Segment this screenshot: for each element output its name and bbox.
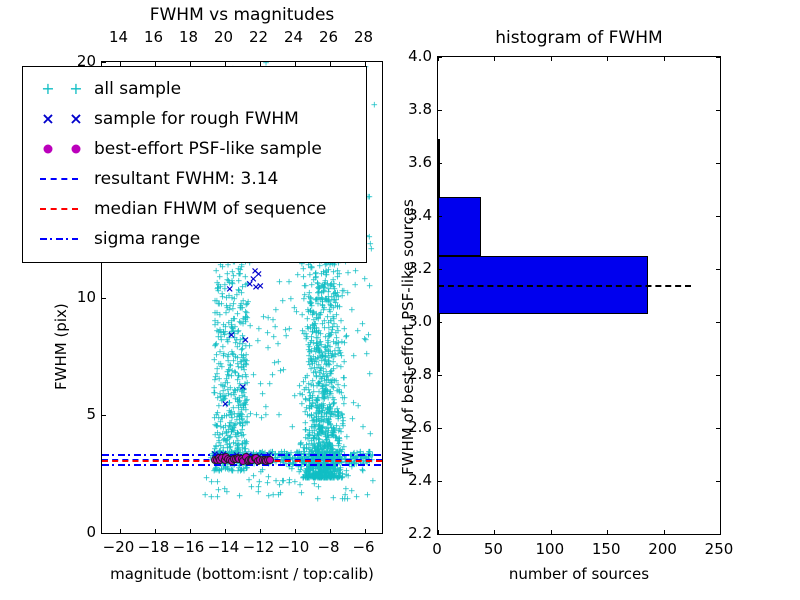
scatter-point-all-sample: + xyxy=(310,418,318,427)
scatter-point-all-sample: + xyxy=(240,366,248,375)
scatter-point-all-sample: + xyxy=(317,309,325,318)
scatter-point-all-sample: + xyxy=(236,492,244,501)
scatter-point-all-sample: + xyxy=(238,427,246,436)
scatter-point-all-sample: + xyxy=(330,315,338,324)
scatter-point-all-sample: + xyxy=(319,424,327,433)
scatter-point-all-sample: + xyxy=(243,379,251,388)
scatter-point-all-sample: + xyxy=(320,402,328,411)
scatter-point-all-sample: + xyxy=(259,390,267,399)
scatter-point-all-sample: + xyxy=(320,474,328,483)
scatter-point-all-sample: + xyxy=(316,469,324,478)
scatter-point-all-sample: + xyxy=(230,327,238,336)
scatter-point-all-sample: + xyxy=(310,474,318,483)
scatter-point-all-sample: + xyxy=(223,438,231,447)
scatter-point-all-sample: + xyxy=(237,336,245,345)
histogram-y-tick xyxy=(438,534,442,535)
scatter-point-all-sample: + xyxy=(223,413,231,422)
scatter-point-all-sample: + xyxy=(324,338,332,347)
scatter-point-all-sample: + xyxy=(299,474,307,483)
scatter-point-all-sample: + xyxy=(324,430,332,439)
histogram-x-tick-label: 200 xyxy=(648,540,677,558)
scatter-point-all-sample: + xyxy=(233,434,241,443)
scatter-point-all-sample: + xyxy=(264,330,272,339)
scatter-point-all-sample: + xyxy=(319,353,327,362)
scatter-point-all-sample: + xyxy=(297,441,305,450)
scatter-point-all-sample: + xyxy=(322,267,330,276)
scatter-point-all-sample: + xyxy=(242,313,250,322)
histogram-y-tick-label: 2.2 xyxy=(392,524,432,542)
scatter-point-all-sample: + xyxy=(310,471,318,480)
scatter-point-all-sample: + xyxy=(282,327,290,336)
scatter-point-all-sample: + xyxy=(334,345,342,354)
scatter-point-all-sample: + xyxy=(306,472,314,481)
scatter-point-all-sample: + xyxy=(332,472,340,481)
scatter-point-all-sample: + xyxy=(307,264,315,273)
scatter-point-all-sample: + xyxy=(239,364,247,373)
scatter-x-tick-label: −18 xyxy=(138,538,170,556)
scatter-point-all-sample: + xyxy=(226,440,234,449)
scatter-point-all-sample: + xyxy=(246,323,254,332)
scatter-point-all-sample: + xyxy=(223,437,231,446)
scatter-x-tick-label: −12 xyxy=(243,538,275,556)
scatter-point-all-sample: + xyxy=(318,469,326,478)
scatter-point-all-sample: + xyxy=(271,323,279,332)
scatter-point-all-sample: + xyxy=(229,467,237,476)
scatter-point-all-sample: + xyxy=(314,431,322,440)
scatter-point-all-sample: + xyxy=(315,389,323,398)
scatter-point-all-sample: + xyxy=(257,380,265,389)
scatter-point-all-sample: + xyxy=(305,290,313,299)
scatter-x-tick-label: −8 xyxy=(317,538,339,556)
scatter-point-all-sample: + xyxy=(224,262,232,271)
scatter-point-all-sample: + xyxy=(299,391,307,400)
scatter-point-all-sample: + xyxy=(217,443,225,452)
scatter-point-all-sample: + xyxy=(334,413,342,422)
scatter-point-all-sample: + xyxy=(291,392,299,401)
scatter-point-all-sample: + xyxy=(227,385,235,394)
scatter-point-all-sample: + xyxy=(307,295,315,304)
scatter-point-all-sample: + xyxy=(306,470,314,479)
scatter-point-all-sample: + xyxy=(316,443,324,452)
scatter-point-all-sample: + xyxy=(317,474,325,483)
scatter-point-all-sample: + xyxy=(269,491,277,500)
scatter-point-all-sample: + xyxy=(237,420,245,429)
scatter-point-all-sample: + xyxy=(320,318,328,327)
scatter-point-all-sample: + xyxy=(262,404,270,413)
scatter-point-all-sample: + xyxy=(322,429,330,438)
scatter-point-all-sample: + xyxy=(314,394,322,403)
scatter-point-all-sample: + xyxy=(339,420,347,429)
figure-canvas: FWHM vs magnitudes +++++++++++++++++++++… xyxy=(0,0,800,600)
scatter-point-all-sample: + xyxy=(322,352,330,361)
scatter-point-all-sample: + xyxy=(333,335,341,344)
scatter-point-all-sample: + xyxy=(321,471,329,480)
scatter-point-all-sample: + xyxy=(300,473,308,482)
scatter-point-all-sample: + xyxy=(329,428,337,437)
scatter-point-all-sample: + xyxy=(301,445,309,454)
scatter-point-all-sample: + xyxy=(217,382,225,391)
scatter-point-all-sample: + xyxy=(225,407,233,416)
scatter-point-all-sample: + xyxy=(359,466,367,475)
scatter-x-tick xyxy=(155,529,156,533)
scatter-point-all-sample: + xyxy=(304,436,312,445)
legend-label: all sample xyxy=(94,78,181,100)
scatter-point-all-sample: + xyxy=(340,287,348,296)
scatter-point-all-sample: + xyxy=(314,473,322,482)
scatter-point-all-sample: + xyxy=(324,404,332,413)
scatter-point-all-sample: + xyxy=(239,354,247,363)
scatter-point-all-sample: + xyxy=(241,274,249,283)
scatter-point-all-sample: + xyxy=(280,367,288,376)
scatter-point-all-sample: + xyxy=(329,443,337,452)
scatter-point-rough-fwhm: × xyxy=(246,280,254,290)
scatter-point-all-sample: + xyxy=(314,469,322,478)
scatter-point-all-sample: + xyxy=(326,440,334,449)
histogram-axes xyxy=(437,56,721,535)
scatter-point-all-sample: + xyxy=(270,333,278,342)
scatter-point-all-sample: + xyxy=(326,333,334,342)
scatter-point-all-sample: + xyxy=(222,310,230,319)
scatter-point-all-sample: + xyxy=(315,294,323,303)
scatter-point-all-sample: + xyxy=(329,400,337,409)
scatter-point-all-sample: + xyxy=(359,424,367,433)
scatter-point-all-sample: + xyxy=(324,314,332,323)
scatter-point-all-sample: + xyxy=(304,324,312,333)
histogram-x-tick xyxy=(551,530,552,534)
scatter-point-all-sample: + xyxy=(305,472,313,481)
scatter-point-all-sample: + xyxy=(215,439,223,448)
scatter-point-all-sample: + xyxy=(224,368,232,377)
scatter-point-all-sample: + xyxy=(335,409,343,418)
scatter-point-all-sample: + xyxy=(300,379,308,388)
scatter-point-all-sample: + xyxy=(313,328,321,337)
scatter-point-rough-fwhm: × xyxy=(252,283,260,293)
scatter-point-all-sample: + xyxy=(330,397,338,406)
scatter-point-all-sample: + xyxy=(217,337,225,346)
histogram-y-tick-label: 3.6 xyxy=(392,153,432,171)
scatter-point-all-sample: + xyxy=(315,439,323,448)
scatter-point-all-sample: + xyxy=(340,443,348,452)
scatter-point-all-sample: + xyxy=(334,438,342,447)
scatter-point-all-sample: + xyxy=(300,265,308,274)
scatter-point-all-sample: + xyxy=(312,409,320,418)
scatter-point-all-sample: + xyxy=(320,305,328,314)
scatter-point-all-sample: + xyxy=(328,431,336,440)
scatter-point-all-sample: + xyxy=(325,355,333,364)
scatter-point-all-sample: + xyxy=(211,449,219,458)
scatter-point-all-sample: + xyxy=(325,402,333,411)
scatter-point-all-sample: + xyxy=(323,466,331,475)
scatter-point-all-sample: + xyxy=(242,302,250,311)
scatter-point-all-sample: + xyxy=(228,372,236,381)
scatter-point-all-sample: + xyxy=(240,386,248,395)
scatter-point-all-sample: + xyxy=(314,471,322,480)
scatter-point-all-sample: + xyxy=(326,405,334,414)
scatter-point-all-sample: + xyxy=(333,363,341,372)
scatter-point-all-sample: + xyxy=(296,383,304,392)
scatter-point-all-sample: + xyxy=(309,473,317,482)
scatter-point-all-sample: + xyxy=(327,369,335,378)
scatter-point-all-sample: + xyxy=(326,343,334,352)
scatter-point-all-sample: + xyxy=(297,467,305,476)
scatter-point-all-sample: + xyxy=(337,471,345,480)
scatter-point-all-sample: + xyxy=(319,296,327,305)
scatter-point-all-sample: + xyxy=(305,471,313,480)
legend-handle xyxy=(32,198,94,220)
scatter-point-all-sample: + xyxy=(325,467,333,476)
scatter-point-all-sample: + xyxy=(316,403,324,412)
scatter-point-all-sample: + xyxy=(225,373,233,382)
scatter-point-all-sample: + xyxy=(230,295,238,304)
scatter-point-all-sample: + xyxy=(325,473,333,482)
scatter-point-all-sample: + xyxy=(323,272,331,281)
scatter-point-all-sample: + xyxy=(314,280,322,289)
scatter-point-all-sample: + xyxy=(327,330,335,339)
scatter-point-all-sample: + xyxy=(323,469,331,478)
scatter-point-all-sample: + xyxy=(308,302,316,311)
scatter-point-all-sample: + xyxy=(243,281,251,290)
scatter-point-all-sample: + xyxy=(311,474,319,483)
scatter-point-all-sample: + xyxy=(317,331,325,340)
scatter-point-all-sample: + xyxy=(330,280,338,289)
scatter-point-all-sample: + xyxy=(233,291,241,300)
scatter-point-all-sample: + xyxy=(308,337,316,346)
scatter-point-all-sample: + xyxy=(317,425,325,434)
histogram-y-tick-label: 4.0 xyxy=(392,47,432,65)
scatter-point-all-sample: + xyxy=(234,429,242,438)
scatter-point-all-sample: + xyxy=(272,306,280,315)
scatter-point-all-sample: + xyxy=(237,305,245,314)
scatter-point-all-sample: + xyxy=(325,319,333,328)
scatter-point-all-sample: + xyxy=(313,347,321,356)
histogram-y-tick-right xyxy=(716,428,720,429)
scatter-point-all-sample: + xyxy=(213,422,221,431)
scatter-point-all-sample: + xyxy=(312,348,320,357)
scatter-point-all-sample: + xyxy=(230,315,238,324)
scatter-point-all-sample: + xyxy=(225,293,233,302)
scatter-point-all-sample: + xyxy=(310,436,318,445)
scatter-point-all-sample: + xyxy=(309,329,317,338)
scatter-point-all-sample: + xyxy=(313,296,321,305)
scatter-point-all-sample: + xyxy=(214,285,222,294)
scatter-point-all-sample: + xyxy=(317,474,325,483)
scatter-point-all-sample: + xyxy=(308,474,316,483)
scatter-point-all-sample: + xyxy=(275,411,283,420)
scatter-point-all-sample: + xyxy=(321,473,329,482)
scatter-point-all-sample: + xyxy=(316,469,324,478)
histogram-bar xyxy=(438,139,440,197)
scatter-point-all-sample: + xyxy=(228,328,236,337)
scatter-point-all-sample: + xyxy=(235,287,243,296)
scatter-point-all-sample: + xyxy=(303,465,311,474)
scatter-point-all-sample: + xyxy=(333,405,341,414)
scatter-point-all-sample: + xyxy=(325,361,333,370)
scatter-point-all-sample: + xyxy=(330,365,338,374)
scatter-point-all-sample: + xyxy=(310,415,318,424)
scatter-point-all-sample: + xyxy=(311,445,319,454)
histogram-y-tick xyxy=(438,57,442,58)
scatter-point-all-sample: + xyxy=(302,469,310,478)
scatter-point-all-sample: + xyxy=(226,330,234,339)
scatter-point-all-sample: + xyxy=(317,429,325,438)
scatter-point-all-sample: + xyxy=(274,359,282,368)
scatter-point-all-sample: + xyxy=(224,339,232,348)
scatter-point-all-sample: + xyxy=(227,409,235,418)
scatter-point-all-sample: + xyxy=(221,329,229,338)
scatter-point-all-sample: + xyxy=(241,439,249,448)
scatter-point-all-sample: + xyxy=(229,350,237,359)
scatter-point-all-sample: + xyxy=(316,373,324,382)
scatter-point-all-sample: + xyxy=(218,397,226,406)
scatter-point-all-sample: + xyxy=(329,431,337,440)
scatter-point-all-sample: + xyxy=(329,359,337,368)
scatter-point-all-sample: + xyxy=(335,437,343,446)
scatter-point-all-sample: + xyxy=(314,474,322,483)
scatter-point-all-sample: + xyxy=(306,432,314,441)
scatter-point-all-sample: + xyxy=(336,435,344,444)
scatter-point-all-sample: + xyxy=(235,431,243,440)
scatter-point-all-sample: + xyxy=(302,472,310,481)
scatter-y-tick xyxy=(102,62,106,63)
scatter-point-all-sample: + xyxy=(303,474,311,483)
scatter-point-all-sample: + xyxy=(220,397,228,406)
scatter-point-all-sample: + xyxy=(323,391,331,400)
scatter-point-all-sample: + xyxy=(317,403,325,412)
scatter-point-all-sample: + xyxy=(239,284,247,293)
scatter-point-all-sample: + xyxy=(310,433,318,442)
scatter-point-all-sample: + xyxy=(306,428,314,437)
scatter-point-all-sample: + xyxy=(321,277,329,286)
scatter-point-all-sample: + xyxy=(213,371,221,380)
scatter-point-all-sample: + xyxy=(318,357,326,366)
scatter-point-all-sample: + xyxy=(328,379,336,388)
scatter-point-all-sample: + xyxy=(333,324,341,333)
scatter-point-all-sample: + xyxy=(309,399,317,408)
scatter-point-all-sample: + xyxy=(322,387,330,396)
scatter-point-all-sample: + xyxy=(305,352,313,361)
scatter-point-all-sample: + xyxy=(231,421,239,430)
scatter-point-all-sample: + xyxy=(327,317,335,326)
scatter-point-all-sample: + xyxy=(211,466,219,475)
scatter-point-all-sample: + xyxy=(312,466,320,475)
scatter-point-all-sample: + xyxy=(324,466,332,475)
scatter-point-all-sample: + xyxy=(350,353,358,362)
scatter-point-all-sample: + xyxy=(302,474,310,483)
scatter-point-rough-fwhm: × xyxy=(251,267,259,277)
scatter-point-all-sample: + xyxy=(313,345,321,354)
scatter-point-all-sample: + xyxy=(316,472,324,481)
scatter-point-all-sample: + xyxy=(326,474,334,483)
scatter-point-all-sample: + xyxy=(228,279,236,288)
histogram-x-tick xyxy=(664,530,665,534)
scatter-point-all-sample: + xyxy=(286,476,294,485)
scatter-point-all-sample: + xyxy=(339,395,347,404)
scatter-point-all-sample: + xyxy=(338,293,346,302)
scatter-point-all-sample: + xyxy=(226,434,234,443)
scatter-point-all-sample: + xyxy=(311,474,319,483)
scatter-point-all-sample: + xyxy=(320,388,328,397)
scatter-x-tick xyxy=(120,529,121,533)
scatter-point-rough-fwhm: × xyxy=(239,383,247,393)
scatter-point-all-sample: + xyxy=(218,467,226,476)
histogram-y-tick-label: 3.4 xyxy=(392,206,432,224)
scatter-point-all-sample: + xyxy=(331,408,339,417)
scatter-point-all-sample: + xyxy=(309,395,317,404)
histogram-x-tick-label: 50 xyxy=(484,540,503,558)
scatter-point-all-sample: + xyxy=(312,270,320,279)
scatter-point-all-sample: + xyxy=(321,357,329,366)
scatter-point-all-sample: + xyxy=(321,431,329,440)
scatter-point-all-sample: + xyxy=(359,320,367,329)
scatter-point-all-sample: + xyxy=(314,289,322,298)
scatter-point-all-sample: + xyxy=(334,466,342,475)
scatter-point-all-sample: + xyxy=(321,474,329,483)
scatter-point-all-sample: + xyxy=(236,381,244,390)
scatter-point-all-sample: + xyxy=(230,425,238,434)
scatter-point-all-sample: + xyxy=(305,380,313,389)
scatter-point-all-sample: + xyxy=(300,274,308,283)
scatter-point-all-sample: + xyxy=(275,492,283,501)
scatter-point-all-sample: + xyxy=(311,358,319,367)
scatter-point-all-sample: + xyxy=(311,423,319,432)
scatter-point-all-sample: + xyxy=(337,466,345,475)
scatter-point-all-sample: + xyxy=(230,301,238,310)
scatter-point-all-sample: + xyxy=(215,376,223,385)
scatter-point-all-sample: + xyxy=(315,472,323,481)
scatter-point-all-sample: + xyxy=(228,466,236,475)
scatter-point-all-sample: + xyxy=(313,295,321,304)
scatter-point-all-sample: + xyxy=(234,430,242,439)
scatter-point-all-sample: + xyxy=(330,449,338,458)
scatter-point-all-sample: + xyxy=(239,346,247,355)
scatter-point-all-sample: + xyxy=(210,467,218,476)
scatter-point-all-sample: + xyxy=(238,359,246,368)
scatter-point-all-sample: + xyxy=(315,381,323,390)
scatter-top-x-tick-label: 24 xyxy=(284,28,303,46)
scatter-point-all-sample: + xyxy=(339,474,347,483)
scatter-point-all-sample: + xyxy=(228,467,236,476)
scatter-point-all-sample: + xyxy=(221,285,229,294)
scatter-x-tick-label: −10 xyxy=(278,538,310,556)
scatter-point-all-sample: + xyxy=(239,445,247,454)
scatter-point-all-sample: + xyxy=(317,413,325,422)
scatter-point-all-sample: + xyxy=(221,383,229,392)
scatter-point-all-sample: + xyxy=(342,333,350,342)
scatter-point-all-sample: + xyxy=(315,348,323,357)
scatter-point-all-sample: + xyxy=(211,357,219,366)
scatter-point-all-sample: + xyxy=(335,434,343,443)
scatter-point-all-sample: + xyxy=(231,331,239,340)
scatter-point-all-sample: + xyxy=(325,298,333,307)
scatter-point-all-sample: + xyxy=(235,394,243,403)
scatter-point-all-sample: + xyxy=(217,334,225,343)
scatter-point-all-sample: + xyxy=(324,472,332,481)
scatter-point-all-sample: + xyxy=(329,304,337,313)
scatter-point-all-sample: + xyxy=(309,328,317,337)
scatter-point-all-sample: + xyxy=(228,408,236,417)
scatter-point-all-sample: + xyxy=(335,474,343,483)
scatter-point-all-sample: + xyxy=(326,466,334,475)
scatter-point-all-sample: + xyxy=(305,395,313,404)
scatter-point-all-sample: + xyxy=(203,474,211,483)
scatter-point-all-sample: + xyxy=(324,465,332,474)
scatter-point-all-sample: + xyxy=(213,466,221,475)
scatter-point-all-sample: + xyxy=(255,483,263,492)
scatter-point-all-sample: + xyxy=(237,401,245,410)
scatter-point-all-sample: + xyxy=(321,394,329,403)
scatter-point-all-sample: + xyxy=(324,373,332,382)
scatter-point-all-sample: + xyxy=(242,318,250,327)
